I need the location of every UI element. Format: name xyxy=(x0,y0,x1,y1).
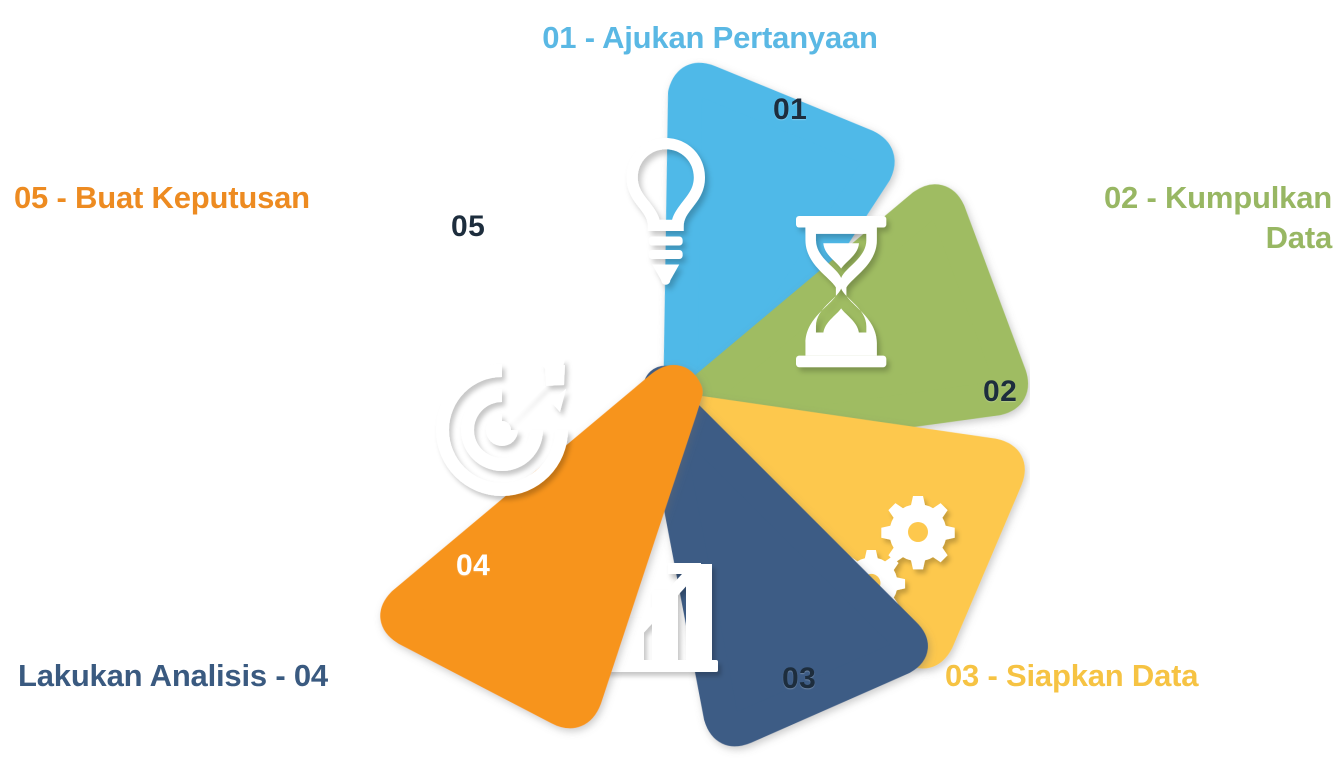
step-label-01: 01 - Ajukan Pertanyaan xyxy=(470,18,950,58)
petal-number-01: 01 xyxy=(773,93,807,127)
target-arrow-icon xyxy=(436,359,568,496)
petal-number-02: 02 xyxy=(983,375,1017,409)
petal-number-05: 05 xyxy=(451,210,485,244)
infographic-canvas: 01 - Ajukan Pertanyaan 02 - Kumpulkan Da… xyxy=(0,0,1344,784)
petal-number-04: 04 xyxy=(456,549,490,583)
petal-number-03: 03 xyxy=(782,662,816,696)
pinwheel-chart xyxy=(330,58,1030,758)
step-label-02: 02 - Kumpulkan Data xyxy=(1000,178,1332,258)
